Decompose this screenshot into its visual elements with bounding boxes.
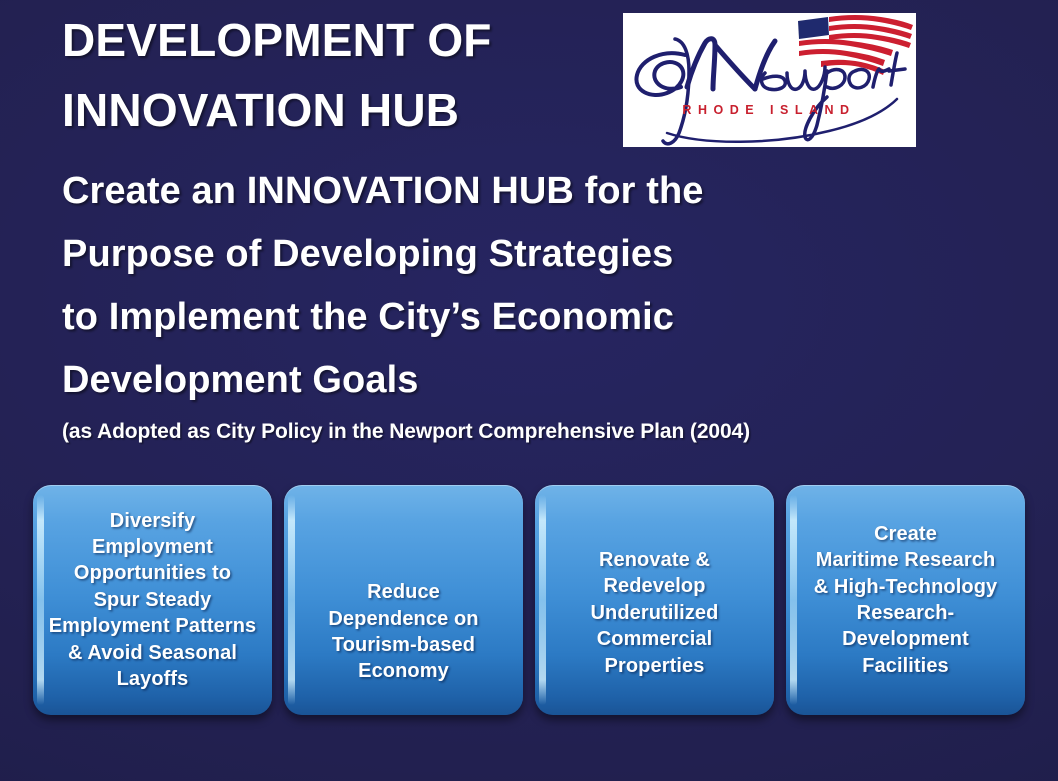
slide-canvas: DEVELOPMENT OF INNOVATION HUB xyxy=(0,0,1058,781)
subtitle-note: (as Adopted as City Policy in the Newpor… xyxy=(62,420,992,444)
title-line-2: INNOVATION HUB xyxy=(62,76,622,146)
newport-logo-graphic: RHODE ISLAND xyxy=(623,13,916,147)
subtitle-line-1: Create an INNOVATION HUB for the xyxy=(62,160,992,223)
goal-box-label: Diversify Employment Opportunities to Sp… xyxy=(49,508,257,693)
goal-box-label: Reduce Dependence on Tourism-based Econo… xyxy=(328,579,478,685)
subtitle-line-2: Purpose of Developing Strategies xyxy=(62,223,992,286)
goal-box-renovate-redevelop[interactable]: Renovate & Redevelop Underutilized Comme… xyxy=(535,485,774,715)
subtitle-line-3: to Implement the City’s Economic xyxy=(62,286,992,349)
subtitle-line-4: Development Goals xyxy=(62,349,992,412)
goal-box-reduce-tourism-dependence[interactable]: Reduce Dependence on Tourism-based Econo… xyxy=(284,485,523,715)
goal-box-maritime-research[interactable]: Create Maritime Research & High-Technolo… xyxy=(786,485,1025,715)
newport-logo: RHODE ISLAND xyxy=(623,13,916,147)
goal-box-label: Renovate & Redevelop Underutilized Comme… xyxy=(591,547,719,679)
goal-box-diversify-employment[interactable]: Diversify Employment Opportunities to Sp… xyxy=(33,485,272,715)
page-title: DEVELOPMENT OF INNOVATION HUB xyxy=(62,6,622,146)
goal-box-label: Create Maritime Research & High-Technolo… xyxy=(814,521,998,679)
title-line-1: DEVELOPMENT OF xyxy=(62,6,622,76)
goal-boxes-row: Diversify Employment Opportunities to Sp… xyxy=(33,485,1025,715)
logo-tagline: RHODE ISLAND xyxy=(682,103,855,117)
subtitle-block: Create an INNOVATION HUB for the Purpose… xyxy=(62,160,992,444)
